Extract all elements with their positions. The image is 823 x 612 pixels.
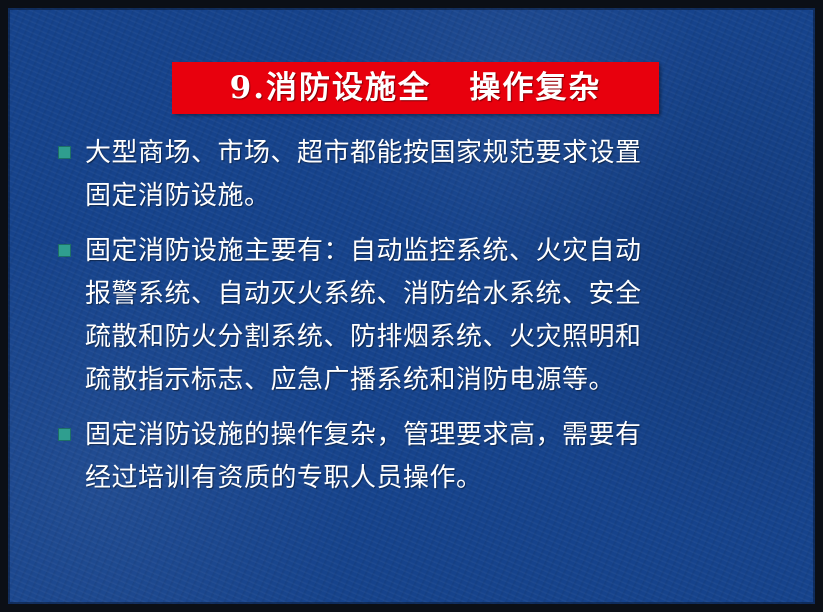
presentation-slide: 9.消防设施全 操作复杂 大型商场、市场、超市都能按国家规范要求设置 固定消防设…: [0, 0, 823, 612]
slide-title: 9.消防设施全 操作复杂: [230, 73, 602, 104]
bullet-item: 大型商场、市场、超市都能按国家规范要求设置 固定消防设施。: [58, 132, 773, 218]
square-bullet-icon: [58, 146, 71, 159]
bullet-text: 大型商场、市场、超市都能按国家规范要求设置 固定消防设施。: [85, 132, 773, 218]
slide-title-banner: 9.消防设施全 操作复杂: [172, 62, 659, 114]
square-bullet-icon: [58, 244, 71, 257]
slide-body: 大型商场、市场、超市都能按国家规范要求设置 固定消防设施。 固定消防设施主要有：…: [58, 132, 773, 512]
square-bullet-icon: [58, 428, 71, 441]
bullet-item: 固定消防设施的操作复杂，管理要求高，需要有 经过培训有资质的专职人员操作。: [58, 414, 773, 500]
bullet-item: 固定消防设施主要有：自动监控系统、火灾自动 报警系统、自动灭火系统、消防给水系统…: [58, 230, 773, 402]
bullet-text: 固定消防设施的操作复杂，管理要求高，需要有 经过培训有资质的专职人员操作。: [85, 414, 773, 500]
bullet-text: 固定消防设施主要有：自动监控系统、火灾自动 报警系统、自动灭火系统、消防给水系统…: [85, 230, 773, 402]
